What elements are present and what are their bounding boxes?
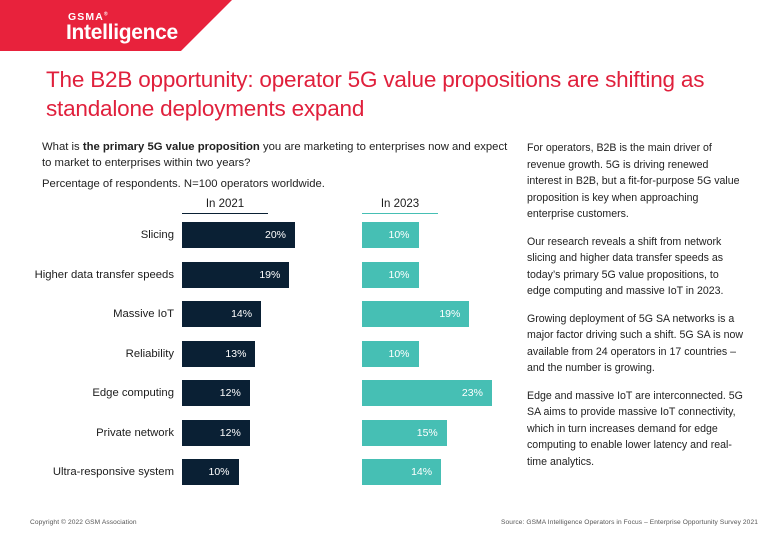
brand-logo: GSMA® Intelligence [0, 0, 232, 51]
question-part-1: What is [42, 141, 83, 153]
chart-row-label: Reliability [0, 341, 174, 367]
bar-2023: 23% [362, 380, 492, 406]
commentary-paragraph: Our research reveals a shift from networ… [527, 234, 745, 300]
bar-value-label: 14% [231, 308, 261, 320]
chart-row-label: Slicing [0, 222, 174, 248]
bar-2023: 14% [362, 459, 441, 485]
question-emphasis: the primary 5G value proposition [83, 141, 260, 153]
chart-row-label: Ultra-responsive system [0, 459, 174, 485]
logo-intelligence-text: Intelligence [66, 22, 178, 43]
question-subnote: Percentage of respondents. N=100 operato… [42, 176, 512, 192]
bar-2023: 10% [362, 222, 419, 248]
bar-2021: 10% [182, 459, 239, 485]
bar-2021: 14% [182, 301, 261, 327]
bar-value-label: 12% [220, 387, 250, 399]
column-header-2023: In 2023 [362, 198, 438, 214]
bar-2021: 20% [182, 222, 295, 248]
footer-copyright: Copyright © 2022 GSM Association [30, 519, 137, 526]
question-line-1: What is the primary 5G value proposition… [42, 139, 512, 171]
bar-value-label: 12% [220, 427, 250, 439]
bar-value-label: 10% [208, 466, 238, 478]
chart-row-label: Higher data transfer speeds [0, 262, 174, 288]
bar-value-label: 19% [259, 269, 289, 281]
chart-row-label: Private network [0, 420, 174, 446]
bar-value-label: 19% [439, 308, 469, 320]
bar-2023: 10% [362, 262, 419, 288]
bar-2021: 12% [182, 380, 250, 406]
bar-2021: 12% [182, 420, 250, 446]
bar-2023: 15% [362, 420, 447, 446]
bar-value-label: 10% [388, 229, 418, 241]
bar-value-label: 23% [462, 387, 492, 399]
page-title: The B2B opportunity: operator 5G value p… [46, 66, 746, 124]
commentary-paragraph: Edge and massive IoT are interconnected.… [527, 388, 745, 471]
column-header-2021: In 2021 [182, 198, 268, 214]
commentary-paragraph: For operators, B2B is the main driver of… [527, 140, 745, 223]
bar-value-label: 20% [265, 229, 295, 241]
bar-value-label: 15% [417, 427, 447, 439]
bar-value-label: 13% [225, 348, 255, 360]
chart-row-label: Edge computing [0, 380, 174, 406]
commentary-paragraph: Growing deployment of 5G SA networks is … [527, 311, 745, 377]
bar-value-label: 10% [388, 269, 418, 281]
registered-mark-icon: ® [104, 12, 108, 18]
bar-value-label: 10% [388, 348, 418, 360]
commentary-panel: For operators, B2B is the main driver of… [527, 140, 745, 470]
footer-source: Source: GSMA Intelligence Operators in F… [501, 519, 758, 526]
bar-2023: 19% [362, 301, 469, 327]
survey-question: What is the primary 5G value proposition… [42, 139, 512, 192]
bar-value-label: 14% [411, 466, 441, 478]
bar-2021: 13% [182, 341, 255, 367]
chart-row-label: Massive IoT [0, 301, 174, 327]
bar-2021: 19% [182, 262, 289, 288]
bar-2023: 10% [362, 341, 419, 367]
